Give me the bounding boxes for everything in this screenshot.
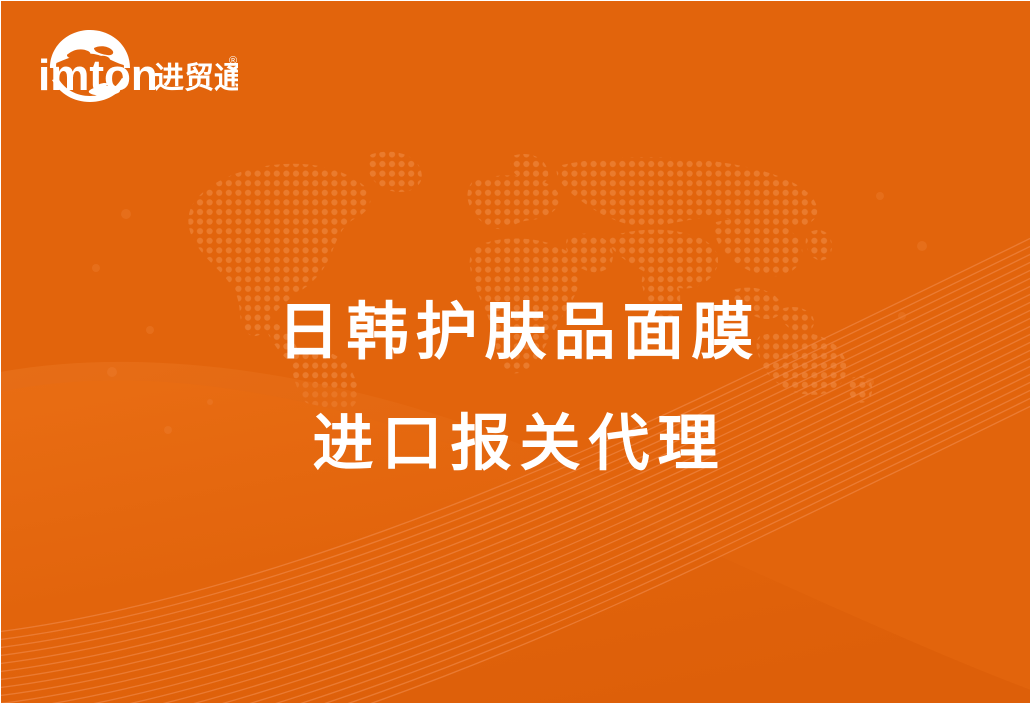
logo-wordmark: imton: [38, 51, 158, 100]
trademark-symbol: ®: [229, 55, 237, 67]
brand-logo[interactable]: imton 进贸通 ®: [38, 24, 238, 106]
promo-banner: imton 进贸通 ® 日韩护肤品面膜 进口报关代理: [0, 0, 1031, 704]
logo-chinese-name: 进贸通: [154, 62, 238, 95]
